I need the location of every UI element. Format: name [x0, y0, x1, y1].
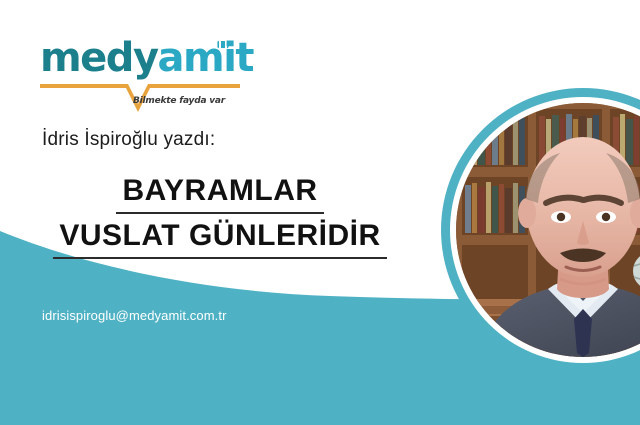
headline-line-2-row: VUSLAT GÜNLERİDİR [0, 217, 440, 259]
headline-line-1: BAYRAMLAR [116, 172, 323, 214]
headline-line-1-row: BAYRAMLAR [0, 172, 440, 214]
article-header-banner: medyamit Bilmekte fayda var İdris İspiro… [0, 0, 640, 425]
author-byline: İdris İspiroğlu yazdı: [42, 129, 215, 151]
logo-wordmark-part-2: amit [158, 35, 254, 81]
article-headline: BAYRAMLAR VUSLAT GÜNLERİDİR [0, 172, 440, 259]
site-logo[interactable]: medyamit Bilmekte fayda var [40, 36, 240, 114]
broadcast-icon [216, 40, 230, 49]
logo-tagline: Bilmekte fayda var [133, 96, 225, 106]
headline-line-2: VUSLAT GÜNLERİDİR [53, 217, 386, 259]
logo-wordmark-part-1: medy [40, 35, 158, 81]
author-portrait [441, 88, 640, 372]
author-email[interactable]: idrisispiroglu@medyamit.com.tr [42, 308, 227, 323]
